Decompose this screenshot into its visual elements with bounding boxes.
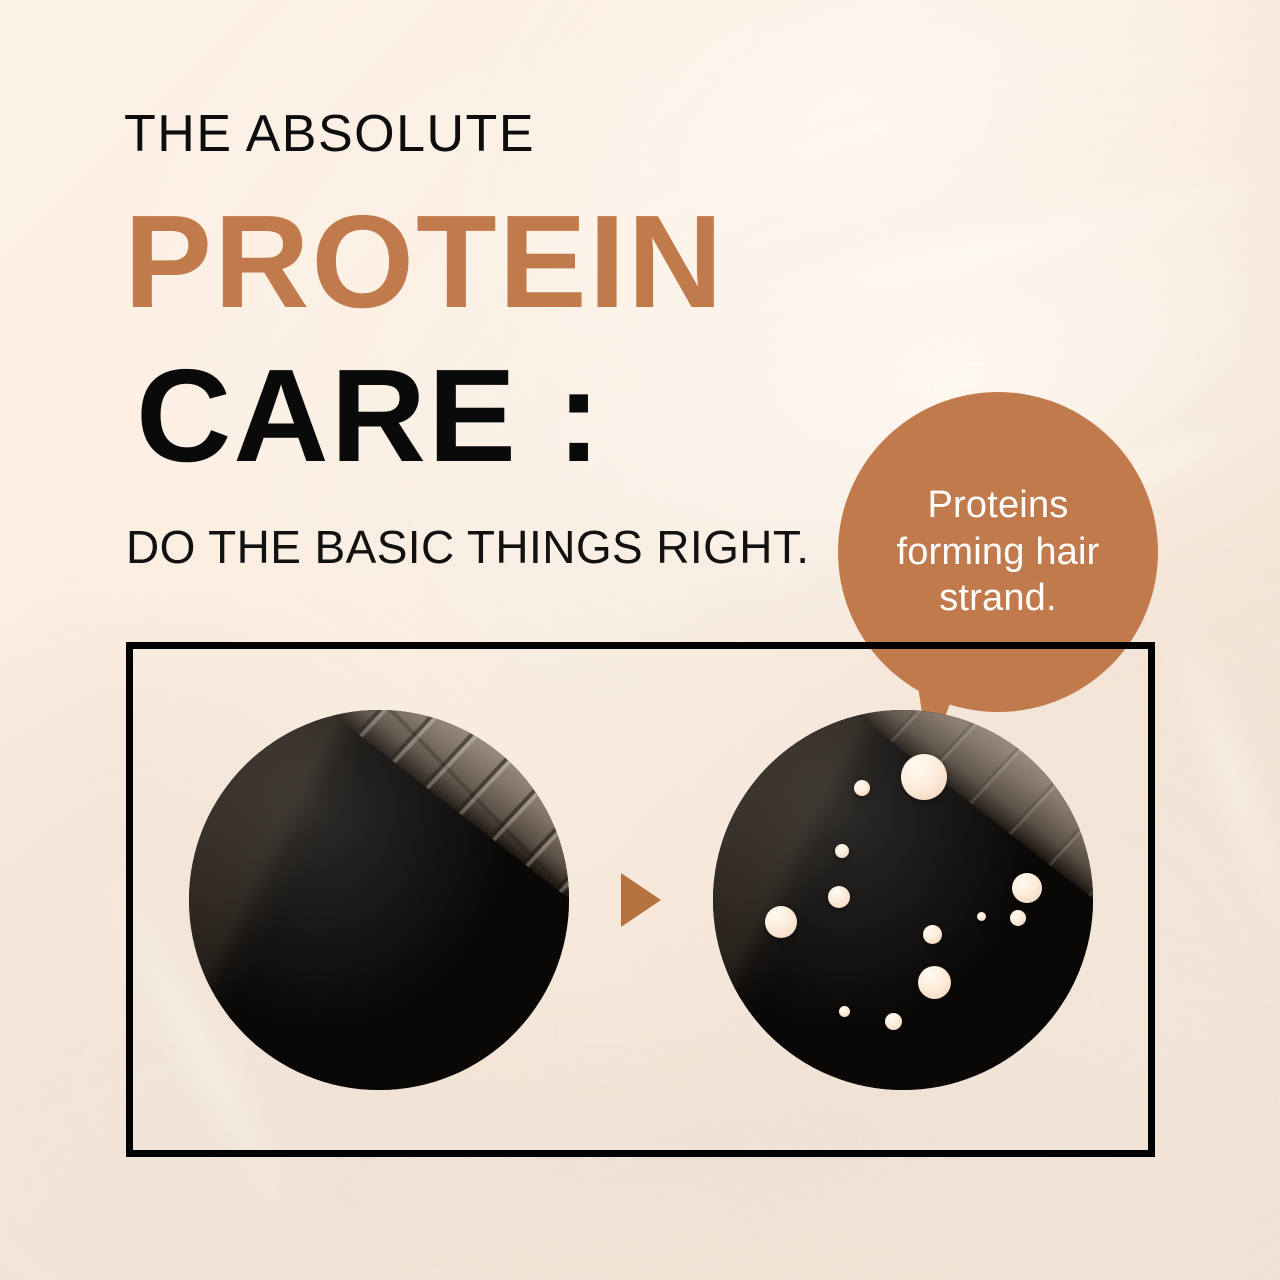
headline-word-care: CARE : (136, 350, 884, 482)
micrograph-before (189, 710, 569, 1090)
callout-bubble-text: Proteins forming hair strand. (878, 482, 1118, 621)
headline-word-protein: PROTEIN (124, 196, 884, 328)
protein-droplet (765, 906, 797, 938)
headline-eyebrow: THE ABSOLUTE (124, 108, 884, 160)
protein-droplet (835, 844, 849, 858)
protein-droplet (839, 1006, 850, 1017)
protein-droplet (1012, 873, 1042, 903)
comparison-frame (126, 642, 1155, 1157)
protein-droplet (828, 886, 850, 908)
micrograph-after (713, 710, 1093, 1090)
headline-subline: DO THE BASIC THINGS RIGHT. (126, 524, 884, 570)
arrow-right-icon (621, 873, 661, 927)
protein-droplet (901, 754, 947, 800)
protein-droplet (854, 780, 870, 796)
protein-droplet (923, 925, 942, 944)
protein-droplet (1010, 910, 1026, 926)
protein-droplet (885, 1013, 902, 1030)
headline-block: THE ABSOLUTE PROTEIN CARE : DO THE BASIC… (124, 108, 884, 570)
comparison-frame-inner (133, 649, 1148, 1150)
protein-droplet (977, 912, 986, 921)
protein-droplet (918, 966, 951, 999)
poster-canvas: THE ABSOLUTE PROTEIN CARE : DO THE BASIC… (0, 0, 1280, 1280)
